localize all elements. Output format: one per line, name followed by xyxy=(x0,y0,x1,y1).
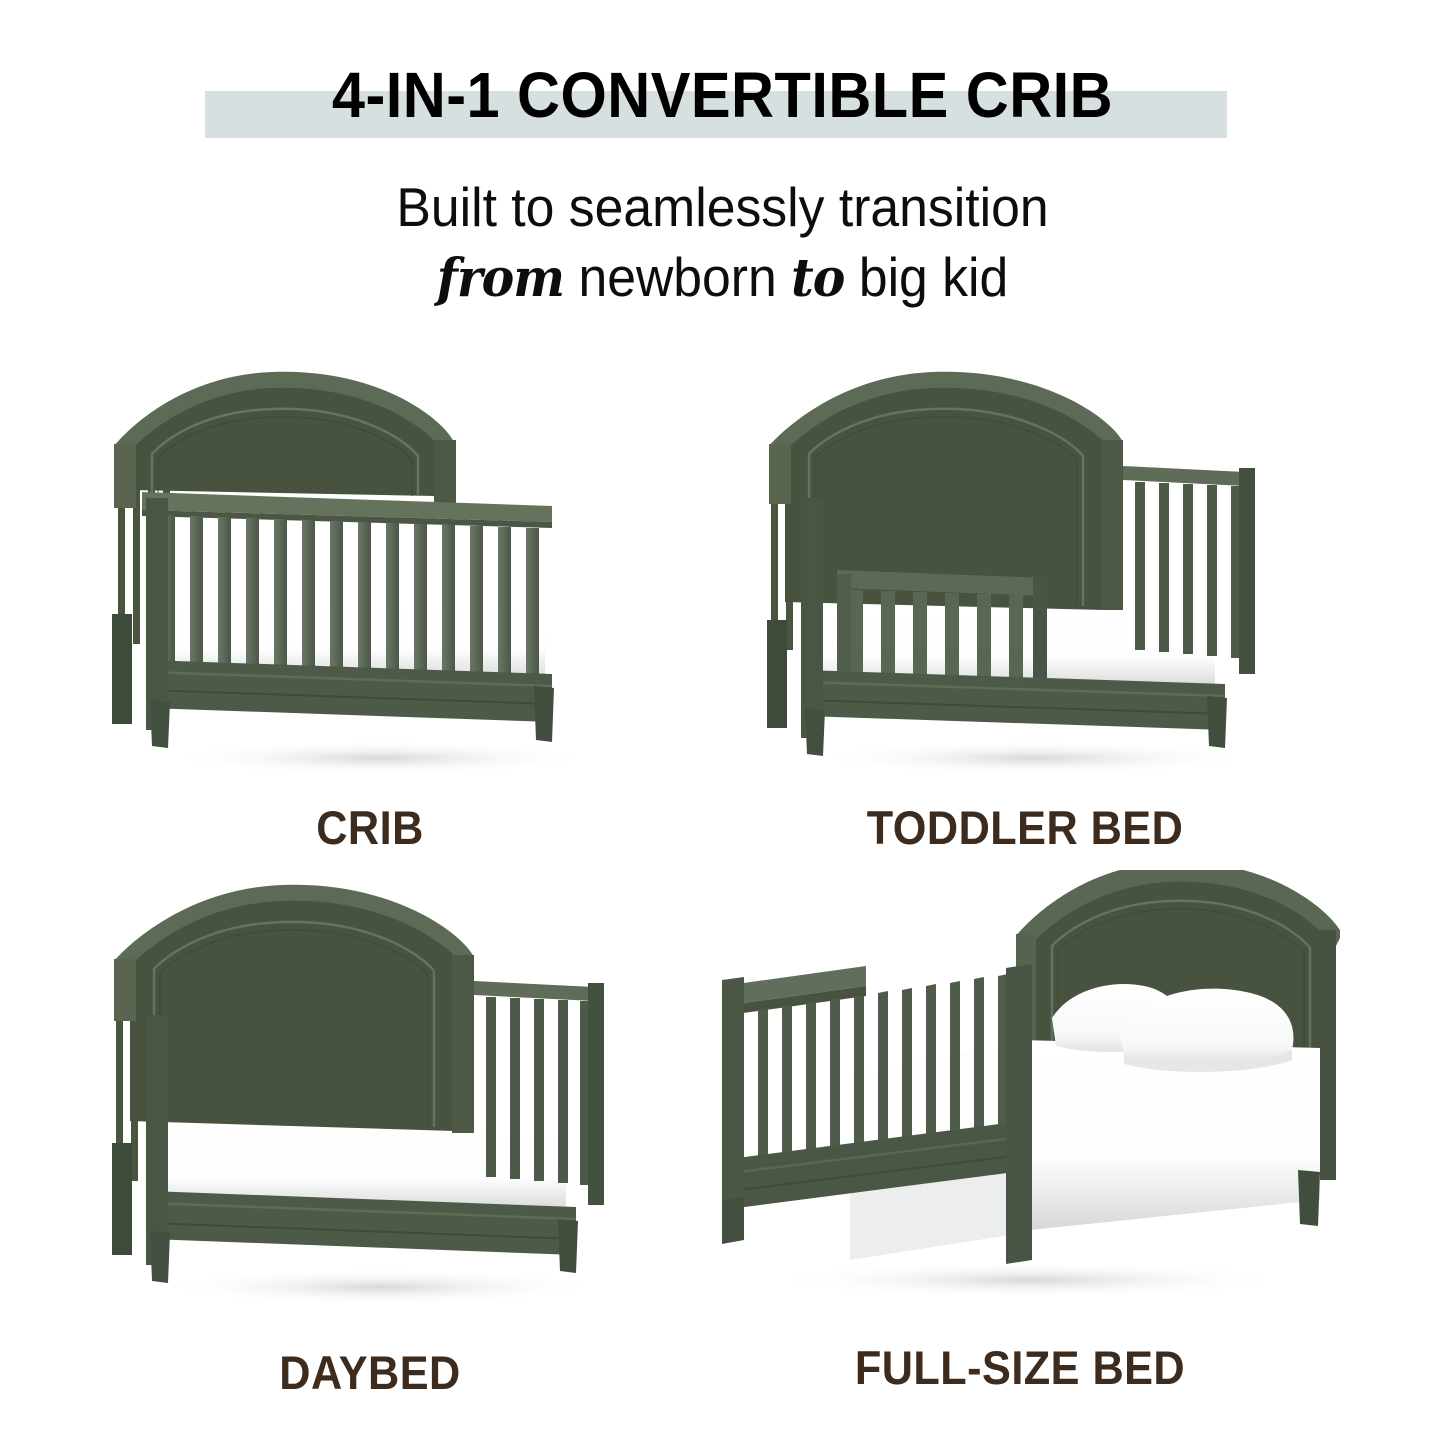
subtitle-word-to: to xyxy=(791,248,844,309)
mode-card-toddler-bed: TODDLER BED xyxy=(745,370,1305,870)
leg-front-left-foot xyxy=(150,1231,170,1283)
mode-label-toddler-bed: TODDLER BED xyxy=(767,800,1282,855)
leg-front-left-foot xyxy=(150,700,170,748)
mode-card-full-size-bed: FULL-SIZE BED xyxy=(700,870,1340,1395)
floor-shadow xyxy=(160,1269,600,1305)
footboard-post-left xyxy=(722,977,744,1230)
floor-shadow xyxy=(165,741,595,775)
leg-headboard-right xyxy=(1298,1170,1320,1226)
leg-front-left xyxy=(146,498,168,730)
mode-label-full-size-bed: FULL-SIZE BED xyxy=(726,1340,1315,1395)
right-side-rail xyxy=(1123,466,1255,674)
daybed-illustration xyxy=(90,875,650,1325)
mode-card-daybed: DAYBED xyxy=(90,875,650,1395)
page-title: 4-IN-1 CONVERTIBLE CRIB xyxy=(51,62,1395,128)
page-title-wrap: 4-IN-1 CONVERTIBLE CRIB xyxy=(0,62,1445,128)
right-side-rail xyxy=(474,981,604,1205)
mode-card-crib: CRIB xyxy=(90,370,650,870)
subtitle-word-newborn: newborn xyxy=(578,246,776,308)
leg-back-left xyxy=(112,1143,132,1255)
headboard-panel xyxy=(114,372,456,508)
subtitle-word-from: from xyxy=(437,248,564,309)
subtitle: Built to seamlessly transition from newb… xyxy=(43,172,1401,314)
floor-shadow xyxy=(815,741,1255,775)
full-size-bed-illustration xyxy=(700,870,1340,1320)
leg-front-left xyxy=(146,1015,168,1265)
subtitle-word-bigkid: big kid xyxy=(859,246,1008,308)
conversion-modes-grid: CRIB xyxy=(0,330,1445,1445)
mode-label-daybed: DAYBED xyxy=(112,1345,627,1400)
leg-front-left-foot xyxy=(805,708,825,756)
leg-front-right xyxy=(558,1219,578,1273)
footboard-post-right xyxy=(1006,964,1032,1264)
leg-front-right xyxy=(534,686,554,742)
leg-front-right xyxy=(1207,696,1227,748)
mode-label-crib: CRIB xyxy=(112,800,627,855)
product-infographic: 4-IN-1 CONVERTIBLE CRIB Built to seamles… xyxy=(0,0,1445,1445)
floor-shadow xyxy=(770,1262,1290,1298)
subtitle-line-2: from newborn to big kid xyxy=(43,242,1401,314)
subtitle-line-1: Built to seamlessly transition xyxy=(396,176,1048,238)
header: 4-IN-1 CONVERTIBLE CRIB Built to seamles… xyxy=(0,0,1445,320)
leg-front-left xyxy=(801,498,823,738)
toddler-bed-illustration xyxy=(745,370,1305,790)
leg-back-left xyxy=(112,614,132,724)
crib-illustration xyxy=(90,370,650,790)
leg-back-left xyxy=(767,620,787,728)
